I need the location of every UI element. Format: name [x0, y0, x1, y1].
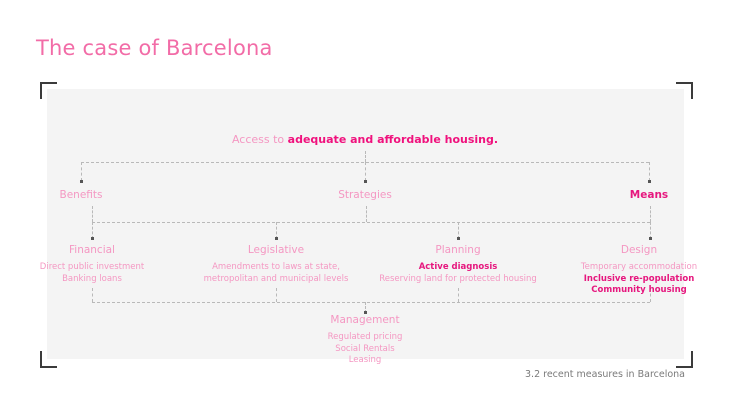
- connector-dot-strategies: [364, 180, 367, 183]
- branch-item: Amendments to laws at state,: [204, 262, 349, 274]
- category-label-means: Means: [630, 188, 668, 202]
- root-node: Access to adequate and affordable housin…: [232, 133, 498, 146]
- category-label-benefits: Benefits: [60, 188, 103, 202]
- connector-drop-strategies: [365, 162, 366, 181]
- category-node-means: Means: [630, 188, 668, 202]
- branch-heading-design: Design: [581, 243, 697, 257]
- branch-items-design: Temporary accommodation Inclusive re-pop…: [581, 262, 697, 297]
- branch-node-legislative: Legislative Amendments to laws at state,…: [204, 243, 349, 285]
- branch-item: metropolitan and municipal levels: [204, 274, 349, 286]
- page-title: The case of Barcelona: [36, 36, 273, 60]
- connector-stem-financial-down: [92, 288, 93, 302]
- connector-dot-benefits: [80, 180, 83, 183]
- category-node-benefits: Benefits: [60, 188, 103, 202]
- connector-stem-planning-down: [458, 288, 459, 302]
- branch-heading-planning: Planning: [379, 243, 537, 257]
- corner-bracket-top-right: [676, 82, 693, 99]
- branch-items-management: Regulated pricing Social Rentals Leasing: [328, 332, 403, 367]
- root-node-emphasis: adequate and affordable housing.: [288, 133, 498, 146]
- category-label-strategies: Strategies: [338, 188, 392, 202]
- branch-item: Active diagnosis: [379, 262, 537, 274]
- branch-item: Leasing: [328, 355, 403, 367]
- corner-bracket-top-left: [40, 82, 57, 99]
- branch-node-financial: Financial Direct public investment Banki…: [40, 243, 144, 285]
- connector-dot-planning: [457, 237, 460, 240]
- branch-item: Community housing: [581, 285, 697, 297]
- branch-item: Direct public investment: [40, 262, 144, 274]
- branch-item: Inclusive re-population: [581, 274, 697, 286]
- footer-caption: 3.2 recent measures in Barcelona: [525, 369, 685, 380]
- branch-heading-legislative: Legislative: [204, 243, 349, 257]
- connector-root-stem: [365, 151, 366, 162]
- branch-items-planning: Active diagnosis Reserving land for prot…: [379, 262, 537, 285]
- branch-item: Reserving land for protected housing: [379, 274, 537, 286]
- connector-stem-strategies: [366, 206, 367, 222]
- branch-heading-management: Management: [328, 313, 403, 327]
- branch-node-management: Management Regulated pricing Social Rent…: [328, 313, 403, 367]
- connector-stem-benefits: [92, 206, 93, 222]
- category-node-strategies: Strategies: [338, 188, 392, 202]
- corner-bracket-bottom-right: [676, 351, 693, 368]
- corner-bracket-bottom-left: [40, 351, 57, 368]
- branch-item: Social Rentals: [328, 344, 403, 356]
- connector-level3-bus: [92, 302, 650, 303]
- branch-items-legislative: Amendments to laws at state, metropolita…: [204, 262, 349, 285]
- connector-drop-means: [649, 162, 650, 181]
- branch-items-financial: Direct public investment Banking loans: [40, 262, 144, 285]
- connector-dot-legislative: [275, 237, 278, 240]
- branch-heading-financial: Financial: [40, 243, 144, 257]
- branch-item: Regulated pricing: [328, 332, 403, 344]
- branch-node-planning: Planning Active diagnosis Reserving land…: [379, 243, 537, 285]
- connector-dot-financial: [91, 237, 94, 240]
- branch-node-design: Design Temporary accommodation Inclusive…: [581, 243, 697, 297]
- connector-level2-bus: [92, 222, 650, 223]
- branch-item: Temporary accommodation: [581, 262, 697, 274]
- connector-stem-means: [650, 206, 651, 222]
- connector-dot-design: [649, 237, 652, 240]
- connector-drop-benefits: [81, 162, 82, 181]
- connector-dot-means: [648, 180, 651, 183]
- connector-stem-legislative-down: [276, 288, 277, 302]
- branch-item: Banking loans: [40, 274, 144, 286]
- root-node-prefix: Access to: [232, 133, 288, 146]
